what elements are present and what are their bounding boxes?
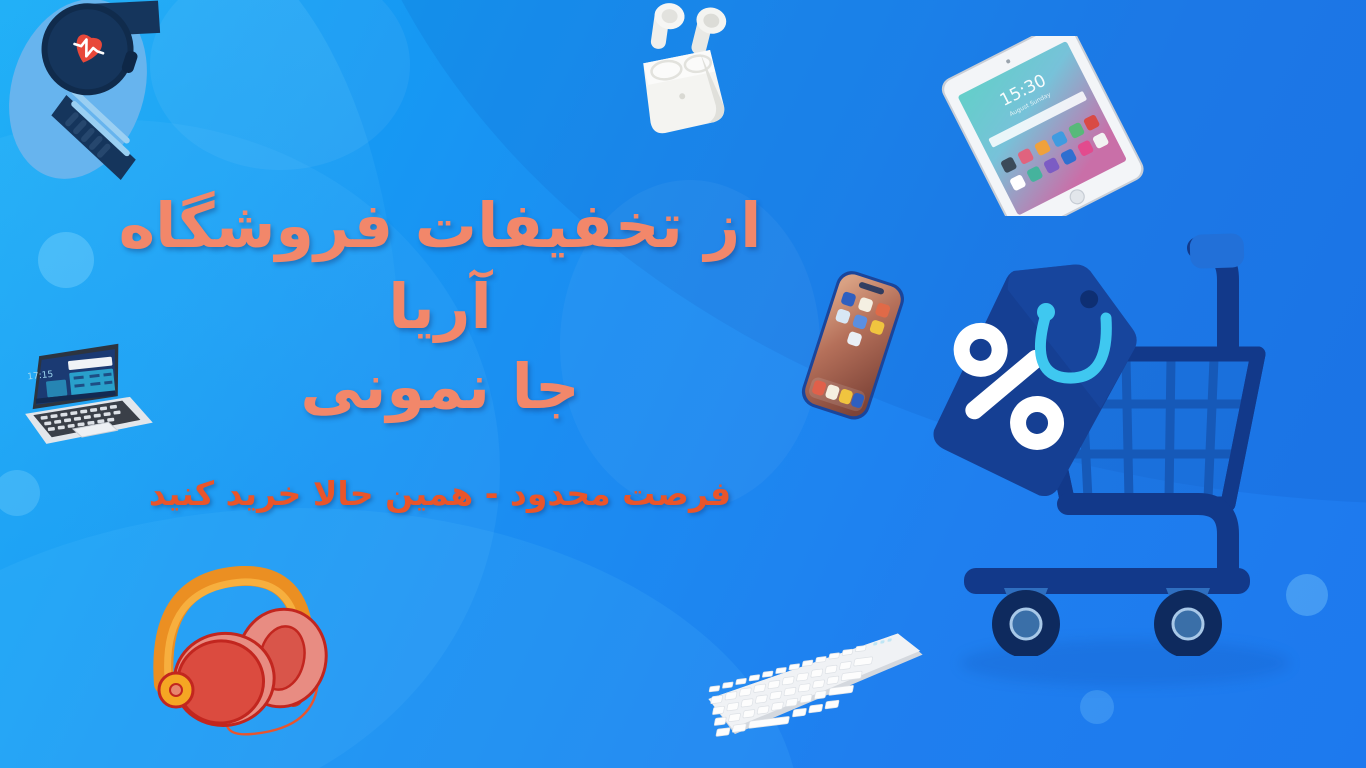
promo-banner: از تخفیفات فروشگاه آریا جا نمونی فرصت مح… bbox=[0, 0, 1366, 768]
background-dot-4 bbox=[1080, 690, 1114, 724]
cart-frame bbox=[964, 504, 1250, 594]
background-dot-3 bbox=[1286, 574, 1328, 616]
background-dot-2 bbox=[0, 470, 40, 516]
cart-handle bbox=[1189, 233, 1244, 346]
cart-wheel-left bbox=[992, 588, 1060, 656]
headphones-illustration bbox=[142, 548, 347, 743]
smartwatch-illustration bbox=[8, 0, 198, 184]
background-bottom-highlight bbox=[0, 508, 800, 768]
promo-subtitle: فرصت محدود - همین حالا خرید کنید bbox=[60, 474, 820, 513]
page-title: از تخفیفات فروشگاه آریا جا نمونی bbox=[60, 186, 820, 428]
laptop-illustration: 17:15 bbox=[8, 338, 154, 462]
tablet-illustration: 15:30 August Sunday bbox=[920, 36, 1160, 216]
cart-wheel-right bbox=[1154, 588, 1222, 656]
cart-handle-grip bbox=[1189, 233, 1244, 269]
wireless-earbuds-illustration bbox=[614, 0, 750, 136]
shopping-cart-with-discount-tag bbox=[898, 226, 1288, 656]
